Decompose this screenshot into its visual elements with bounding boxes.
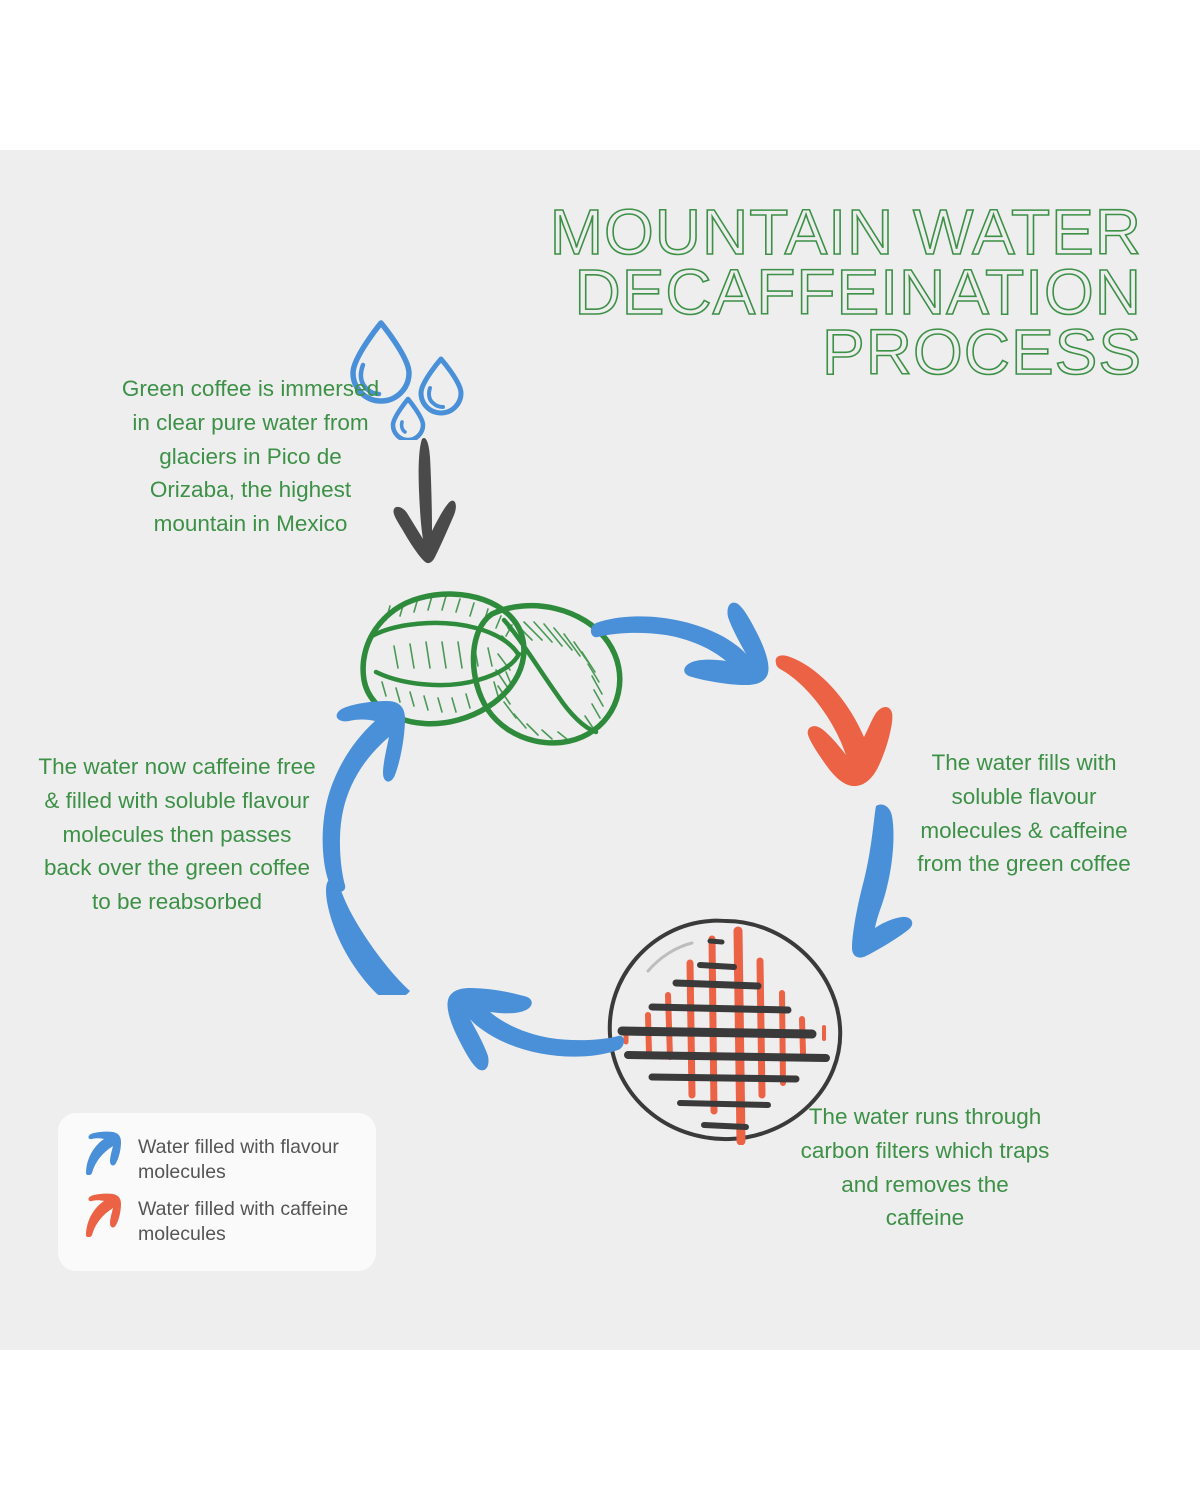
legend-label-caffeine: Water filled with caffeine molecules <box>138 1191 364 1247</box>
step-1-text: Green coffee is immersed in clear pure w… <box>118 372 383 541</box>
step-4-text: The water now caffeine free & filled wit… <box>38 750 316 919</box>
page-title: MOUNTAIN WATER DECAFFEINATION PROCESS <box>442 202 1142 382</box>
curved-arrow-icon <box>80 1129 126 1175</box>
arrow-black-down-icon <box>388 435 468 565</box>
step-3-text: The water runs through carbon filters wh… <box>800 1100 1050 1235</box>
infographic-canvas: MOUNTAIN WATER DECAFFEINATION PROCESS <box>0 150 1200 1350</box>
legend-item-flavour: Water filled with flavour molecules <box>80 1129 364 1185</box>
infographic-page: MOUNTAIN WATER DECAFFEINATION PROCESS <box>0 0 1200 1500</box>
step-2-text: The water fills with soluble flavour mol… <box>898 746 1150 881</box>
legend-item-caffeine: Water filled with caffeine molecules <box>80 1191 364 1247</box>
curved-arrow-icon <box>80 1191 126 1237</box>
legend-box: Water filled with flavour molecules Wate… <box>58 1113 376 1271</box>
legend-label-flavour: Water filled with flavour molecules <box>138 1129 364 1185</box>
arrow-red-to-filter-stage-icon <box>762 635 902 795</box>
arrow-blue-return-lower-icon <box>420 970 625 1090</box>
